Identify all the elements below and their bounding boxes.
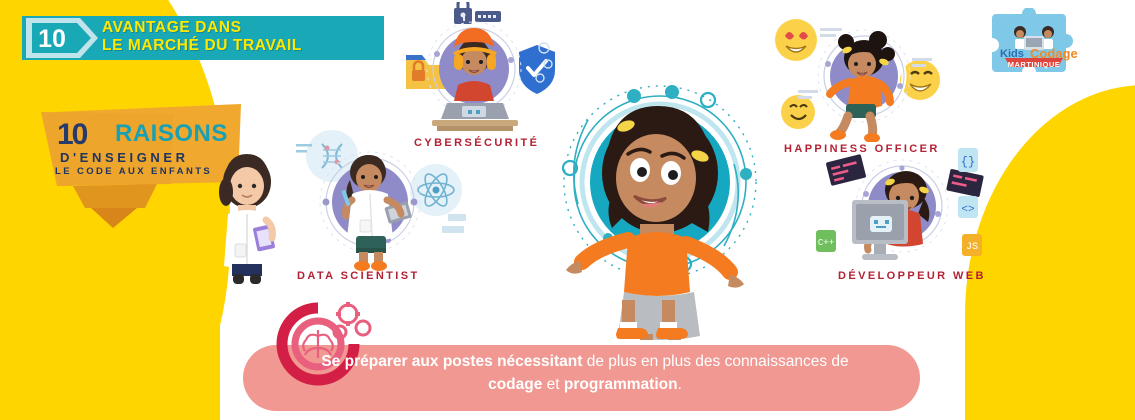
- happiness-officer-illustration: [772, 14, 947, 142]
- logo-subtitle-line1: D'ENSEIGNER: [60, 150, 189, 165]
- data-scientist-illustration: [292, 128, 472, 278]
- cpp-icon-text: C++: [818, 238, 834, 248]
- caption-bold-3: programmation: [564, 376, 678, 393]
- job-label-developpeur-web: DÉVELOPPEUR WEB: [838, 270, 986, 282]
- logo-number: 10: [57, 118, 86, 152]
- logo-kids-text: Kids: [1000, 48, 1024, 60]
- header-title-line2: LE MARCHÉ DU TRAVAIL: [102, 37, 392, 55]
- logo-subtitle-line2: LE CODE AUX ENFANTS: [55, 166, 212, 177]
- number-badge-10: 10: [22, 14, 100, 62]
- infographic-canvas: 10 AVANTAGE DANS LE MARCHÉ DU TRAVAIL 10…: [0, 0, 1135, 420]
- logo-raisons-text: RAISONS: [115, 120, 228, 148]
- js-icon-text: JS: [966, 242, 978, 253]
- caption-text: Se préparer aux postes nécessitant de pl…: [300, 350, 870, 396]
- badge-number-text: 10: [38, 25, 66, 53]
- cybersecurity-illustration: [392, 2, 557, 137]
- tag-icon-text: <>: [961, 204, 974, 216]
- job-label-cybersecurite: CYBERSÉCURITÉ: [414, 137, 539, 149]
- job-label-data-scientist: DATA SCIENTIST: [297, 270, 420, 282]
- header-title-line1: AVANTAGE DANS: [102, 19, 392, 37]
- brackets-icon-text: {}: [961, 155, 975, 169]
- center-girl-legs: [616, 300, 706, 342]
- caption-plain-2: et: [542, 376, 564, 393]
- logo-codage-text: Codage: [1030, 46, 1078, 61]
- kids-codage-martinique-logo[interactable]: Kids Codage MARTINIQUE: [986, 8, 1082, 78]
- teacher-lab-coat-illustration: [208, 148, 286, 290]
- caption-plain-1: de plus en plus des connaissances de: [582, 353, 848, 370]
- caption-bold-1: Se préparer aux postes nécessitant: [321, 353, 582, 370]
- caption-bold-2: codage: [488, 376, 542, 393]
- header-title: AVANTAGE DANS LE MARCHÉ DU TRAVAIL: [102, 19, 392, 55]
- logo-region-text: MARTINIQUE: [1005, 60, 1063, 69]
- web-developer-illustration: {} <> C++ JS: [806, 146, 996, 272]
- caption-plain-3: .: [678, 376, 682, 393]
